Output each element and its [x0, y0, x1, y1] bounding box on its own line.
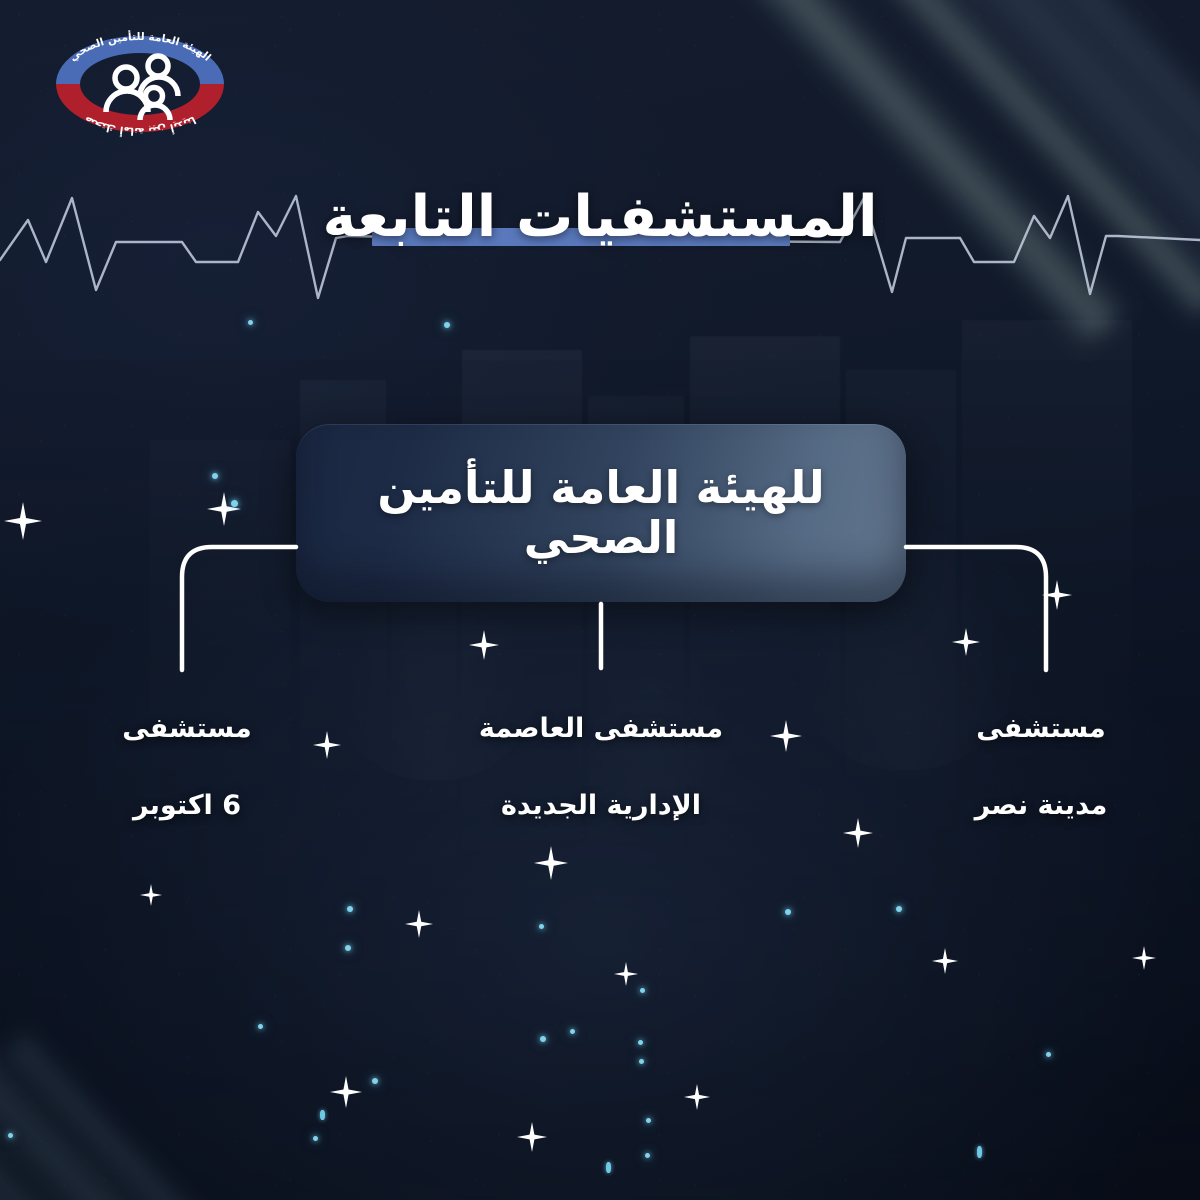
sparkle-star-icon [843, 818, 873, 848]
page-title-block: المستشفيات التابعة [0, 172, 1200, 262]
branch-line-1: مستشفى [946, 710, 1136, 748]
branch-label-hospital-6-october[interactable]: مستشفى 6 اكتوبر [92, 672, 282, 864]
organization-card-label: للهيئة العامة للتأمين الصحي [296, 463, 906, 564]
sparkle-star-icon [517, 1122, 547, 1152]
branch-label-hospital-nasr-city[interactable]: مستشفى مدينة نصر [946, 672, 1136, 864]
page-title: المستشفيات التابعة [323, 189, 878, 246]
sparkle-star-icon [405, 910, 433, 938]
diagonal-light-streak [0, 950, 168, 1200]
glow-dot [313, 1136, 318, 1141]
glow-dot [444, 322, 450, 328]
sparkle-star-icon [770, 720, 802, 752]
organization-logo: الهيئة العامة للتأمين الصحي صحتك أمانة ب… [40, 22, 240, 142]
glow-dot [606, 1162, 611, 1173]
glow-dot [347, 906, 353, 912]
glow-dot [258, 1024, 263, 1029]
sparkle-star-icon [330, 1076, 362, 1108]
branch-line-1: مستشفى [92, 710, 282, 748]
sparkle-star-icon [469, 630, 499, 660]
glow-dot [539, 924, 544, 929]
sparkle-star-icon [313, 731, 341, 759]
diagonal-light-streak [0, 1027, 350, 1200]
glow-dot [785, 909, 791, 915]
branch-line-2: مدينة نصر [946, 787, 1136, 825]
glow-dot [640, 988, 645, 993]
logo-blue-arc [56, 36, 224, 84]
sparkle-star-icon [140, 884, 162, 906]
glow-dot [646, 1118, 651, 1123]
glow-dot [540, 1036, 546, 1042]
glow-dot [645, 1153, 650, 1158]
sparkle-star-icon [1132, 946, 1156, 970]
sparkle-star-icon [952, 628, 980, 656]
sparkle-star-icon [4, 502, 42, 540]
glow-dot [638, 1040, 643, 1045]
glow-dot [372, 1078, 378, 1084]
organization-card[interactable]: للهيئة العامة للتأمين الصحي [296, 424, 906, 602]
sparkle-star-icon [1042, 580, 1072, 610]
glow-dot [1046, 1052, 1051, 1057]
glow-dot [320, 1110, 325, 1120]
diagonal-light-streak [755, 0, 1200, 322]
connector-right [906, 547, 1046, 670]
sparkle-star-icon [684, 1084, 710, 1110]
logo-family-figures [106, 56, 178, 120]
branch-line-1: مستشفى العاصمة [476, 710, 726, 748]
glow-dot [639, 1059, 644, 1064]
branch-line-2: الإدارية الجديدة [476, 787, 726, 825]
glow-dot [212, 473, 218, 479]
poster-canvas: الهيئة العامة للتأمين الصحي صحتك أمانة ب… [0, 0, 1200, 1200]
branch-line-2: 6 اكتوبر [92, 787, 282, 825]
glow-dot [570, 1029, 575, 1034]
sparkle-star-icon [614, 962, 638, 986]
glow-dot [345, 945, 351, 951]
connector-left [182, 547, 296, 670]
glow-dot [896, 906, 902, 912]
glow-dot [977, 1146, 982, 1158]
glow-dot [8, 1133, 13, 1138]
diagonal-light-streak [963, 0, 1200, 326]
diagonal-light-streak [0, 983, 293, 1200]
branch-label-hospital-new-capital[interactable]: مستشفى العاصمة الإدارية الجديدة [476, 672, 726, 864]
sparkle-star-icon [207, 492, 241, 526]
glow-dot [248, 320, 253, 325]
sparkle-star-icon [932, 948, 958, 974]
glow-dot [231, 500, 238, 507]
